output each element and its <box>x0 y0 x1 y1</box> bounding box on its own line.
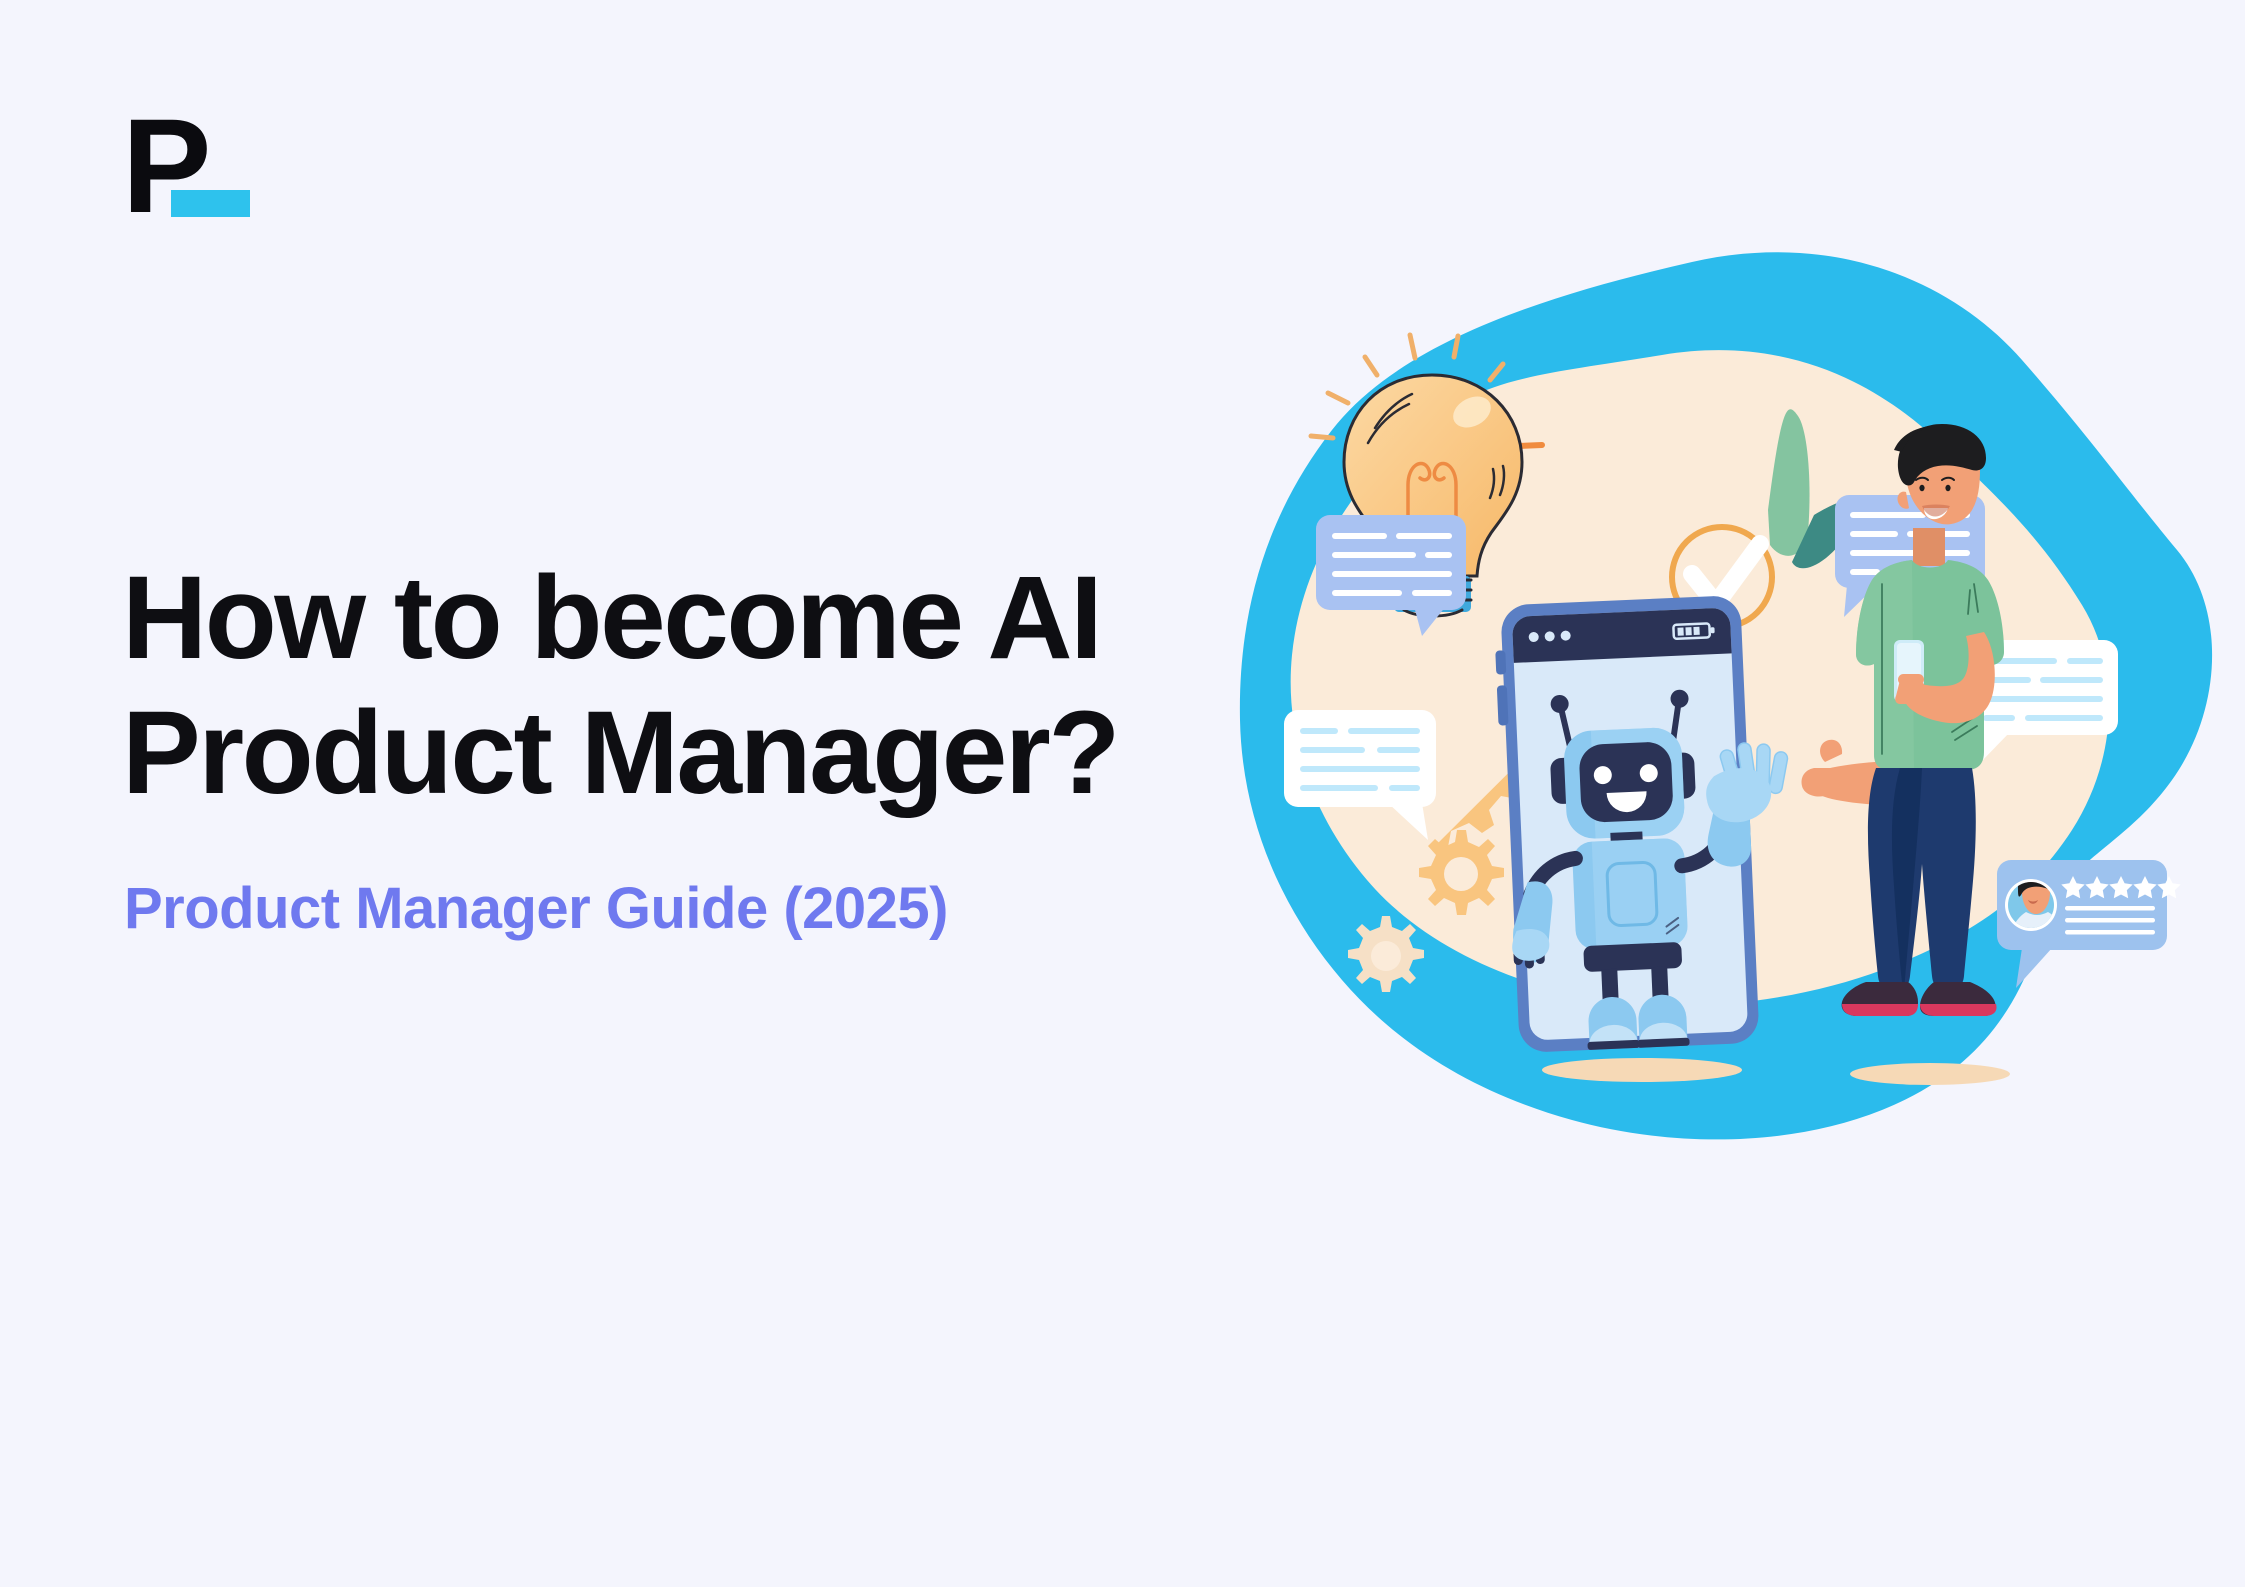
page-subtitle: Product Manager Guide (2025) <box>124 874 948 944</box>
page-title-line-1: How to become AI <box>122 551 1242 686</box>
person-shadow <box>1850 1063 2010 1085</box>
logo[interactable]: P <box>122 112 262 222</box>
page-title: How to become AI Product Manager? <box>122 551 1242 820</box>
hero-banner: P How to become AI Product Manager? Prod… <box>0 0 2245 1587</box>
page-title-line-2: Product Manager? <box>122 686 1242 821</box>
logo-accent-bar <box>171 190 250 217</box>
ai-chatbot-product-manager-illustration <box>1222 240 2232 1170</box>
gear-icon-small <box>1348 916 1424 992</box>
phone-shadow <box>1542 1058 1742 1082</box>
review-bubble <box>1997 860 2181 988</box>
